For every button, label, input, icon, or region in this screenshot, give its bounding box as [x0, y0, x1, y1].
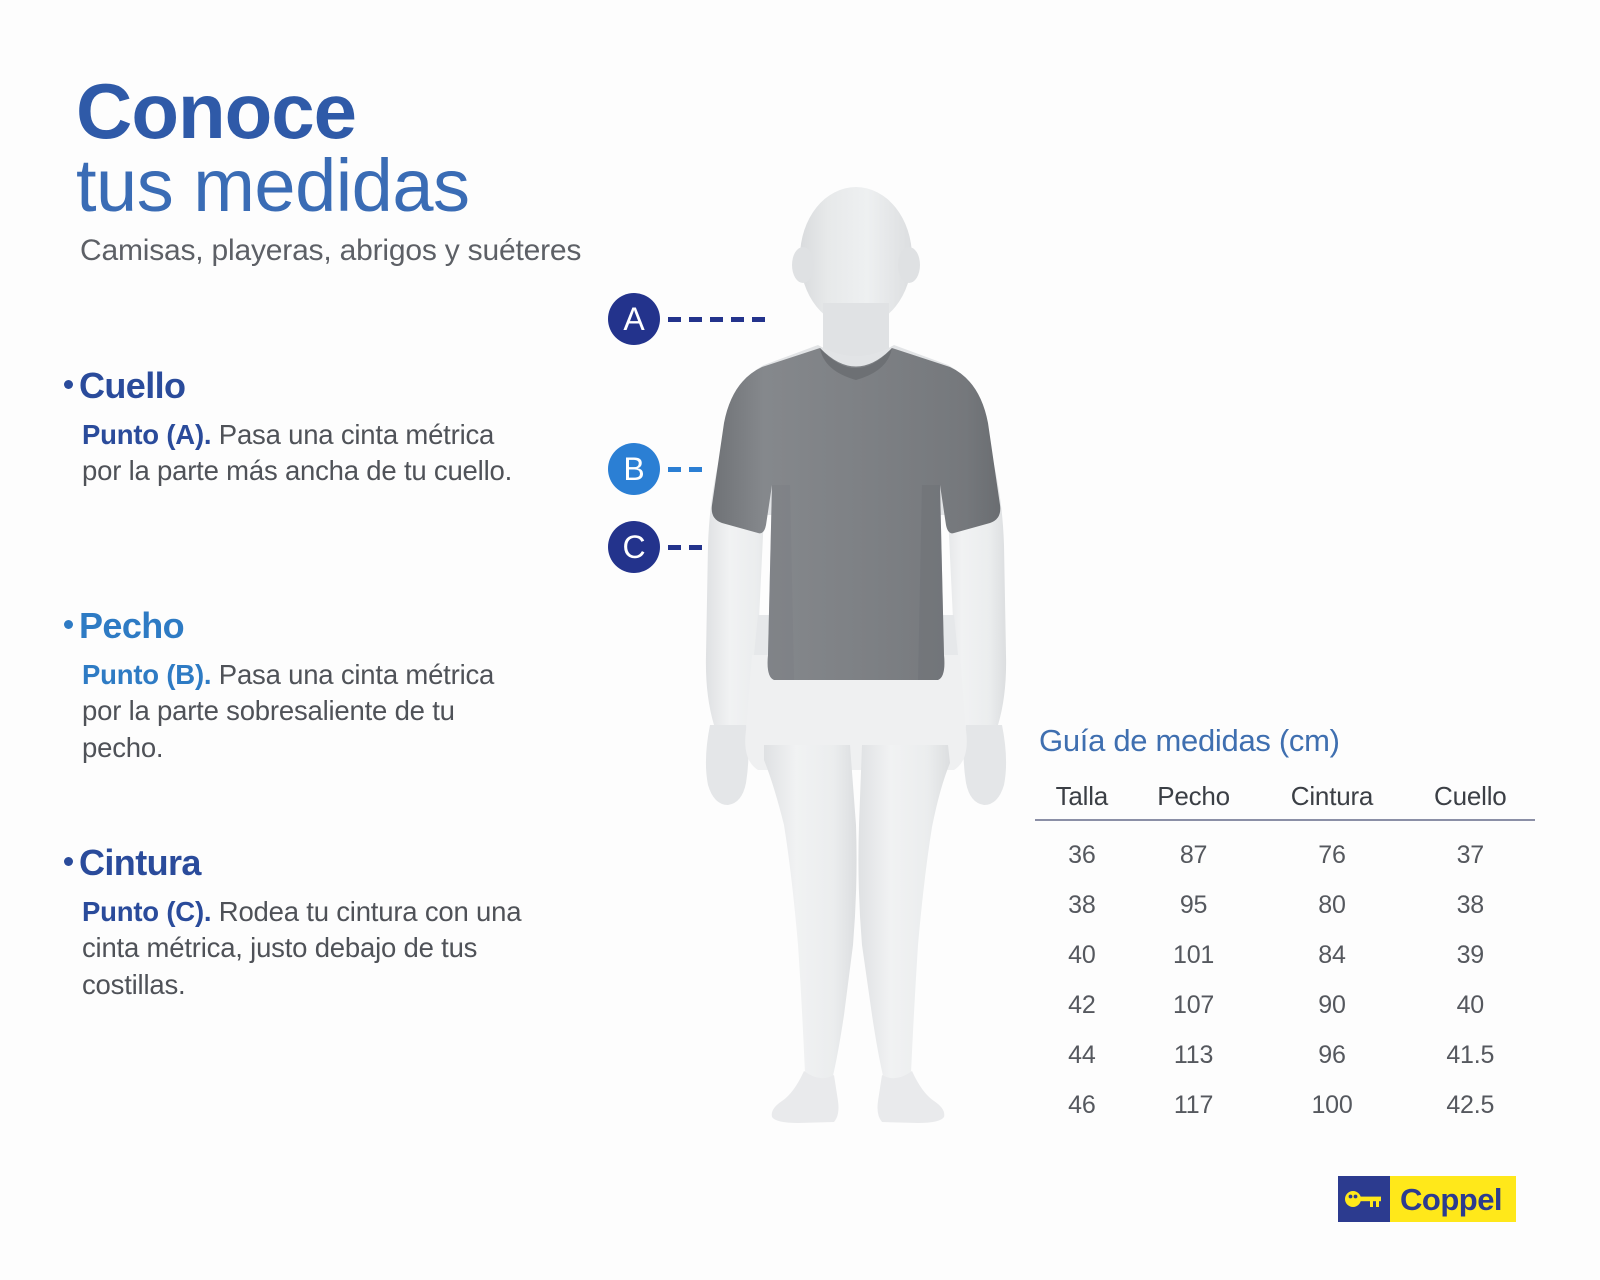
coppel-logo: Coppel	[1338, 1176, 1516, 1222]
section-heading-cuello: Cuello	[64, 365, 534, 407]
table-cell-cintura: 76	[1258, 820, 1405, 881]
section-title-cintura: Cintura	[79, 842, 201, 884]
marker-circle-b: B	[608, 443, 660, 495]
punto-label-a: Punto (A).	[82, 419, 211, 450]
marker-c: C	[608, 521, 702, 573]
table-cell-cintura: 80	[1258, 881, 1405, 931]
key-icon	[1338, 1176, 1390, 1222]
table-cell-talla: 44	[1035, 1031, 1129, 1081]
bullet-dot-icon	[64, 380, 73, 389]
table-cell-cuello: 41.5	[1406, 1031, 1535, 1081]
table-title: Guía de medidas (cm)	[1039, 723, 1535, 759]
table-row: 4611710042.5	[1035, 1081, 1535, 1131]
table-cell-cuello: 42.5	[1406, 1081, 1535, 1131]
title-line-1: Conoce	[76, 74, 716, 148]
table-cell-cintura: 100	[1258, 1081, 1405, 1131]
section-body-cintura: Punto (C). Rodea tu cintura con una cint…	[64, 894, 534, 1003]
section-heading-cintura: Cintura	[64, 842, 534, 884]
table-row: 401018439	[1035, 931, 1535, 981]
marker-b: B	[608, 443, 706, 495]
logo-wordmark-box: Coppel	[1390, 1176, 1516, 1222]
table-cell-pecho: 101	[1129, 931, 1259, 981]
title-line-2: tus medidas	[76, 148, 716, 223]
table-cell-talla: 38	[1035, 881, 1129, 931]
section-body-pecho: Punto (B). Pasa una cinta métrica por la…	[64, 657, 534, 766]
size-guide-table-block: Guía de medidas (cm) Talla Pecho Cintura…	[1035, 723, 1535, 1131]
table-cell-pecho: 95	[1129, 881, 1259, 931]
table-cell-talla: 40	[1035, 931, 1129, 981]
table-cell-talla: 46	[1035, 1081, 1129, 1131]
bullet-dot-icon	[64, 857, 73, 866]
table-cell-cuello: 37	[1406, 820, 1535, 881]
table-cell-pecho: 87	[1129, 820, 1259, 881]
punto-label-c: Punto (C).	[82, 896, 211, 927]
table-cell-pecho: 113	[1129, 1031, 1259, 1081]
column-header-talla: Talla	[1035, 781, 1129, 820]
marker-circle-a: A	[608, 293, 660, 345]
page-title: Conoce tus medidas Camisas, playeras, ab…	[76, 74, 716, 268]
page-subtitle: Camisas, playeras, abrigos y suéteres	[80, 234, 716, 268]
section-heading-pecho: Pecho	[64, 605, 534, 647]
figure-left-foot	[772, 1071, 839, 1123]
section-title-pecho: Pecho	[79, 605, 184, 647]
table-row: 36877637	[1035, 820, 1535, 881]
figure-right-leg	[858, 745, 950, 1085]
column-header-cintura: Cintura	[1258, 781, 1405, 820]
punto-label-b: Punto (B).	[82, 659, 211, 690]
column-header-cuello: Cuello	[1406, 781, 1535, 820]
marker-a: A	[608, 293, 772, 345]
marker-dashed-line-b	[668, 467, 706, 472]
bullet-dot-icon	[64, 620, 73, 629]
table-cell-cintura: 90	[1258, 981, 1405, 1031]
section-cintura: Cintura Punto (C). Rodea tu cintura con …	[64, 842, 534, 1003]
figure-right-foot	[878, 1071, 945, 1123]
table-cell-talla: 36	[1035, 820, 1129, 881]
size-guide-infographic: Conoce tus medidas Camisas, playeras, ab…	[0, 0, 1600, 1280]
table-cell-talla: 42	[1035, 981, 1129, 1031]
section-body-cuello: Punto (A). Pasa una cinta métrica por la…	[64, 417, 534, 490]
marker-dashed-line-a	[668, 317, 772, 322]
table-cell-cintura: 96	[1258, 1031, 1405, 1081]
table-row: 38958038	[1035, 881, 1535, 931]
table-row: 421079040	[1035, 981, 1535, 1031]
section-pecho: Pecho Punto (B). Pasa una cinta métrica …	[64, 605, 534, 766]
marker-dashed-line-c	[668, 545, 702, 550]
table-row: 441139641.5	[1035, 1031, 1535, 1081]
table-cell-pecho: 117	[1129, 1081, 1259, 1131]
table-cell-cintura: 84	[1258, 931, 1405, 981]
table-cell-pecho: 107	[1129, 981, 1259, 1031]
table-header-row: Talla Pecho Cintura Cuello	[1035, 781, 1535, 820]
section-cuello: Cuello Punto (A). Pasa una cinta métrica…	[64, 365, 534, 490]
figure-left-leg	[764, 745, 857, 1085]
logo-wordmark: Coppel	[1400, 1184, 1502, 1215]
size-guide-table: Talla Pecho Cintura Cuello 3687763738958…	[1035, 781, 1535, 1131]
marker-circle-c: C	[608, 521, 660, 573]
table-cell-cuello: 38	[1406, 881, 1535, 931]
column-header-pecho: Pecho	[1129, 781, 1259, 820]
table-cell-cuello: 40	[1406, 981, 1535, 1031]
section-title-cuello: Cuello	[79, 365, 185, 407]
table-cell-cuello: 39	[1406, 931, 1535, 981]
